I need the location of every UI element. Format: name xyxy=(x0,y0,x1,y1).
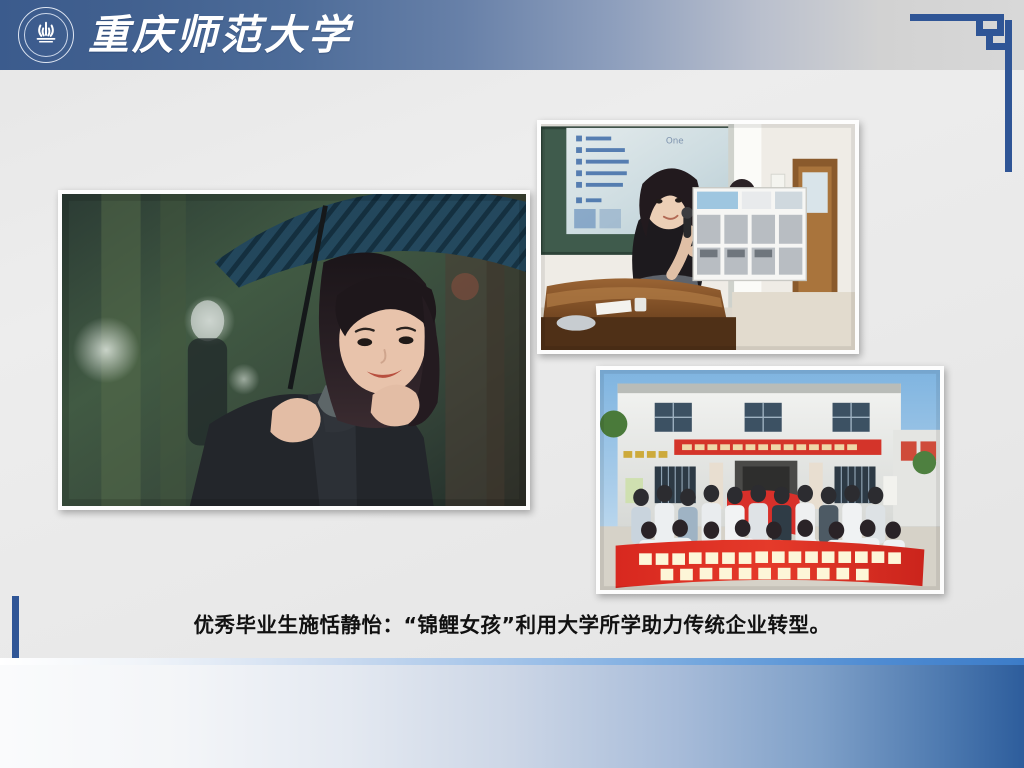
emblem-core-icon xyxy=(31,19,61,49)
header-brand-group: 重庆师范大学 xyxy=(0,0,352,70)
chongqing-normal-university-emblem-icon xyxy=(18,7,74,63)
university-wordmark: 重庆师范大学 xyxy=(88,15,352,56)
presentation-slide: 重庆师范大学 xyxy=(0,0,1024,768)
slide-footer-band xyxy=(0,658,1024,768)
photo-team-group-banner xyxy=(596,366,944,594)
photo-graduate-portrait xyxy=(58,190,530,510)
slide-caption: 优秀毕业生施恬静怡：“锦鲤女孩”利用大学所学助力传统企业转型。 xyxy=(0,608,1024,638)
svg-text:One: One xyxy=(666,136,684,146)
chinese-lattice-corner-ornament-top-right xyxy=(900,0,1024,180)
photo-classroom-presentation: One xyxy=(537,120,859,354)
slide-header-band: 重庆师范大学 xyxy=(0,0,1024,70)
slide-footer-accent-stripe xyxy=(0,658,1024,665)
